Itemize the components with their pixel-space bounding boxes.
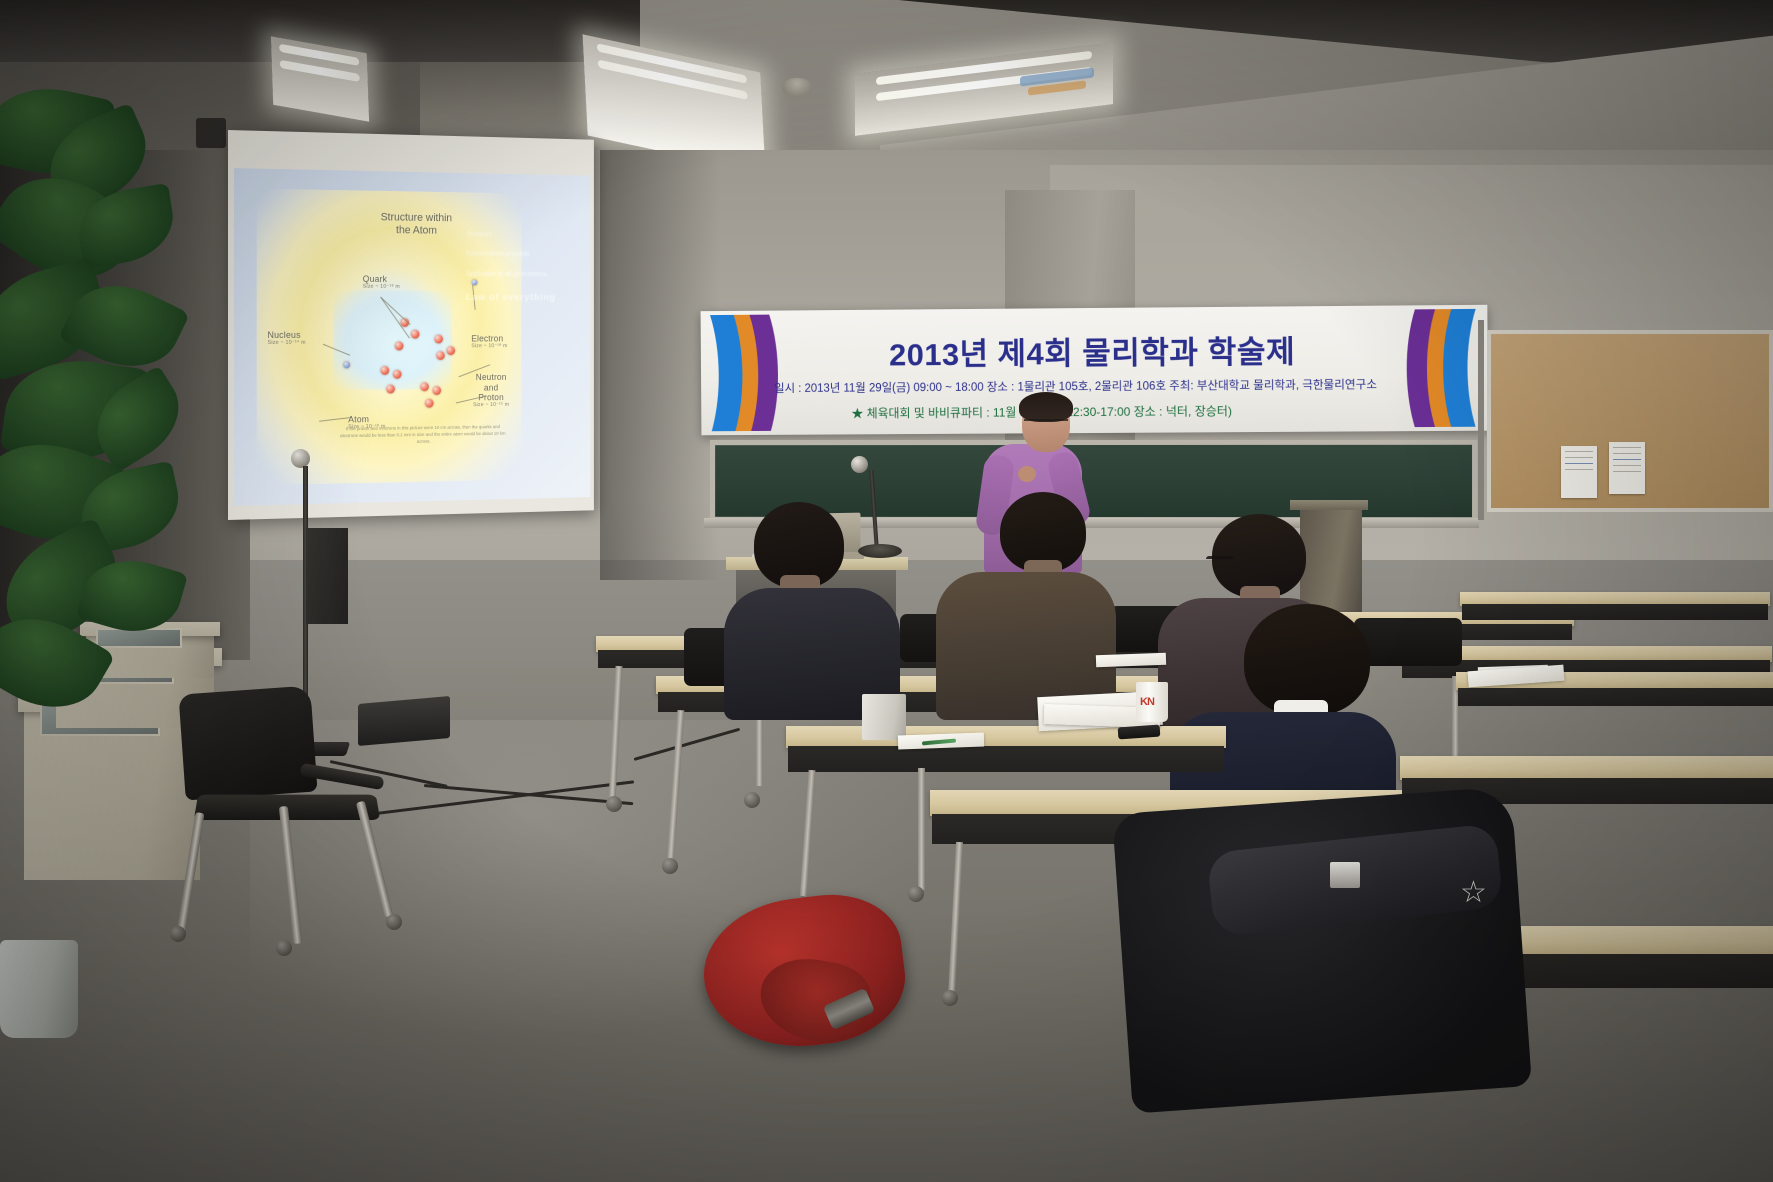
notice-paper <box>1561 446 1597 498</box>
microphone-base <box>858 544 902 558</box>
desk-caster <box>908 886 924 902</box>
chair-caster <box>276 940 292 956</box>
desk-caster <box>662 858 678 874</box>
board-divider <box>1478 320 1484 520</box>
slide-label-nucleus: Nucleus Size ~ 10⁻¹⁴ m <box>268 330 306 346</box>
event-banner: 2013년 제4회 물리학과 학술제 일시 : 2013년 11월 29일(금)… <box>701 305 1489 435</box>
slide-label-quark: Quark Size ~ 10⁻¹⁸ m <box>363 274 400 290</box>
slide-title-line1: Structure within <box>381 211 452 224</box>
student-desk-top <box>786 726 1226 748</box>
slide-footnote: If the proton and neutrons in this pictu… <box>337 424 508 446</box>
slide-right-line4: Law of everything <box>466 284 583 311</box>
backpack-label-tag <box>1330 862 1360 888</box>
tissue-box <box>862 694 906 740</box>
slide-right-line3: Applicable to all phenomena <box>466 265 583 285</box>
chair-caster <box>170 926 186 942</box>
slide-label-electron: Electron Size ~ 10⁻¹⁸ m <box>471 333 507 349</box>
paper-sheet <box>1096 653 1166 667</box>
microphone-head <box>851 456 868 473</box>
presenter-hand <box>1018 466 1036 482</box>
smoke-detector-icon <box>782 78 812 96</box>
cup-logo: KN <box>1140 696 1164 712</box>
presentation-slide: Structure within the Atom <box>234 168 590 506</box>
desk-caster <box>606 796 622 812</box>
desk-caster <box>744 792 760 808</box>
slide-right-line1: Structure <box>466 225 583 246</box>
lab-bench-glass-panel <box>96 628 182 648</box>
student-desk-front <box>788 746 1224 772</box>
chair-back[interactable] <box>1354 618 1462 666</box>
slide-right-text-block: Structure Fundamental principle Applicab… <box>466 225 583 311</box>
cork-notice-board <box>1487 330 1773 512</box>
banner-extra-event-line: ★ 체육대회 및 바비큐파티 : 11월 30일(토) 12:30-17:00 … <box>851 401 1457 422</box>
presenter-glasses <box>1024 419 1068 427</box>
student-desk-top <box>1400 756 1773 780</box>
chair-caster <box>386 914 402 930</box>
banner-title: 2013년 제4회 물리학과 학술제 <box>701 325 1488 376</box>
av-speaker-box <box>306 528 348 624</box>
notice-paper <box>1609 442 1645 494</box>
podium-top <box>1290 500 1368 510</box>
projection-screen: Structure within the Atom <box>228 130 594 520</box>
student-desk-front <box>1458 688 1773 706</box>
slide-title-line2: the Atom <box>396 225 437 237</box>
lecture-hall-photo: Structure within the Atom <box>0 0 1773 1182</box>
banner-details-line: 일시 : 2013년 11월 29일(금) 09:00 ~ 18:00 장소 :… <box>774 376 1447 397</box>
presenter-hair <box>1019 392 1073 422</box>
projector-screen-housing <box>196 118 226 148</box>
student-desk-front <box>1462 604 1768 620</box>
desk-caster <box>942 990 958 1006</box>
star-icon: ☆ <box>1460 878 1494 912</box>
audience-glasses <box>1206 556 1234 564</box>
slide-label-neutron-proton: Neutron and Proton Size ~ 10⁻¹⁵ m <box>473 372 509 408</box>
office-chair-back[interactable] <box>178 686 317 801</box>
slide-right-line2: Fundamental principle <box>466 245 583 266</box>
av-equipment-case <box>358 696 450 746</box>
desk-leg <box>918 768 925 890</box>
plant-pot <box>0 940 78 1038</box>
